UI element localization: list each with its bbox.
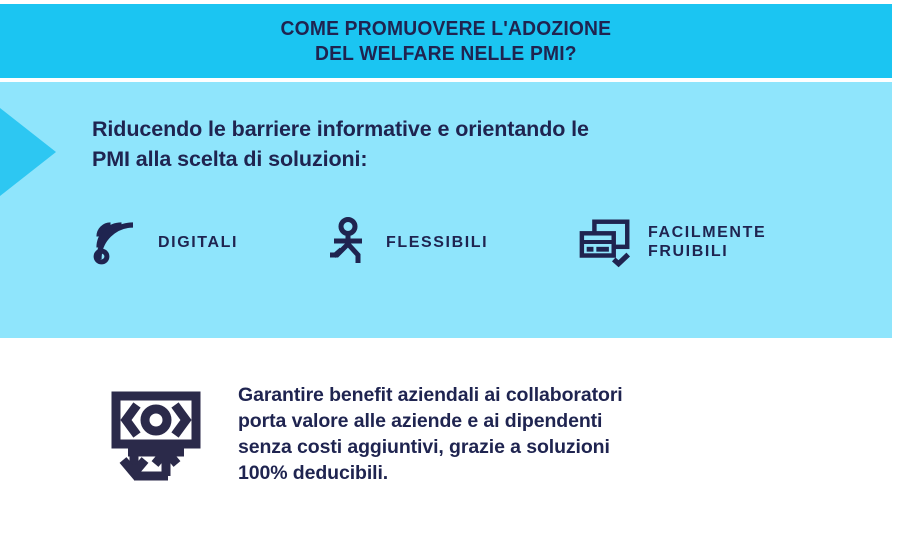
lead-paragraph: Riducendo le barriere informative e orie… [92,114,832,174]
footer-line-1: Garantire benefit aziendali ai collabora… [238,382,838,408]
footer-line-2: porta valore alle aziende e ai dipendent… [238,408,838,434]
feature-row: DIGITALI [88,207,848,277]
lead-line-1: Riducendo le barriere informative e orie… [92,114,832,144]
lead-line-2: PMI alla scelta di soluzioni: [92,144,832,174]
infographic-root: COME PROMUOVERE L'ADOZIONE DEL WELFARE N… [0,0,900,540]
body-panel: Riducendo le barriere informative e orie… [0,82,892,338]
footer-line-3: senza costi aggiuntivi, grazie a soluzio… [238,434,838,460]
feature-label-digitali: DIGITALI [158,233,238,252]
feature-item-facilmente-fruibili: FACILMENTE FRUIBILI [578,207,766,277]
feature-label-line-1: FLESSIBILI [386,233,488,252]
eye-exchange-arrows-icon [104,382,208,486]
feature-item-flessibili: FLESSIBILI [316,207,488,277]
wifi-signal-icon [88,214,144,270]
page-title-line-1: COME PROMUOVERE L'ADOZIONE [281,16,612,41]
feature-label-line-1: DIGITALI [158,233,238,252]
feature-label-flessibili: FLESSIBILI [386,233,488,252]
header-band: COME PROMUOVERE L'ADOZIONE DEL WELFARE N… [0,4,892,78]
footer-line-4: 100% deducibili. [238,460,838,486]
feature-label-facilmente-fruibili: FACILMENTE FRUIBILI [648,223,766,261]
feature-label-line-2: FRUIBILI [648,242,766,261]
footer-paragraph: Garantire benefit aziendali ai collabora… [238,382,838,486]
feature-item-digitali: DIGITALI [88,207,238,277]
page-title: COME PROMUOVERE L'ADOZIONE DEL WELFARE N… [281,16,612,66]
page-title-line-2: DEL WELFARE NELLE PMI? [281,41,612,66]
feature-label-line-1: FACILMENTE [648,223,766,242]
footer-section: Garantire benefit aziendali ai collabora… [0,360,900,510]
screen-card-check-icon [578,214,634,270]
arrow-marker-icon [0,108,56,196]
running-person-icon [316,214,372,270]
